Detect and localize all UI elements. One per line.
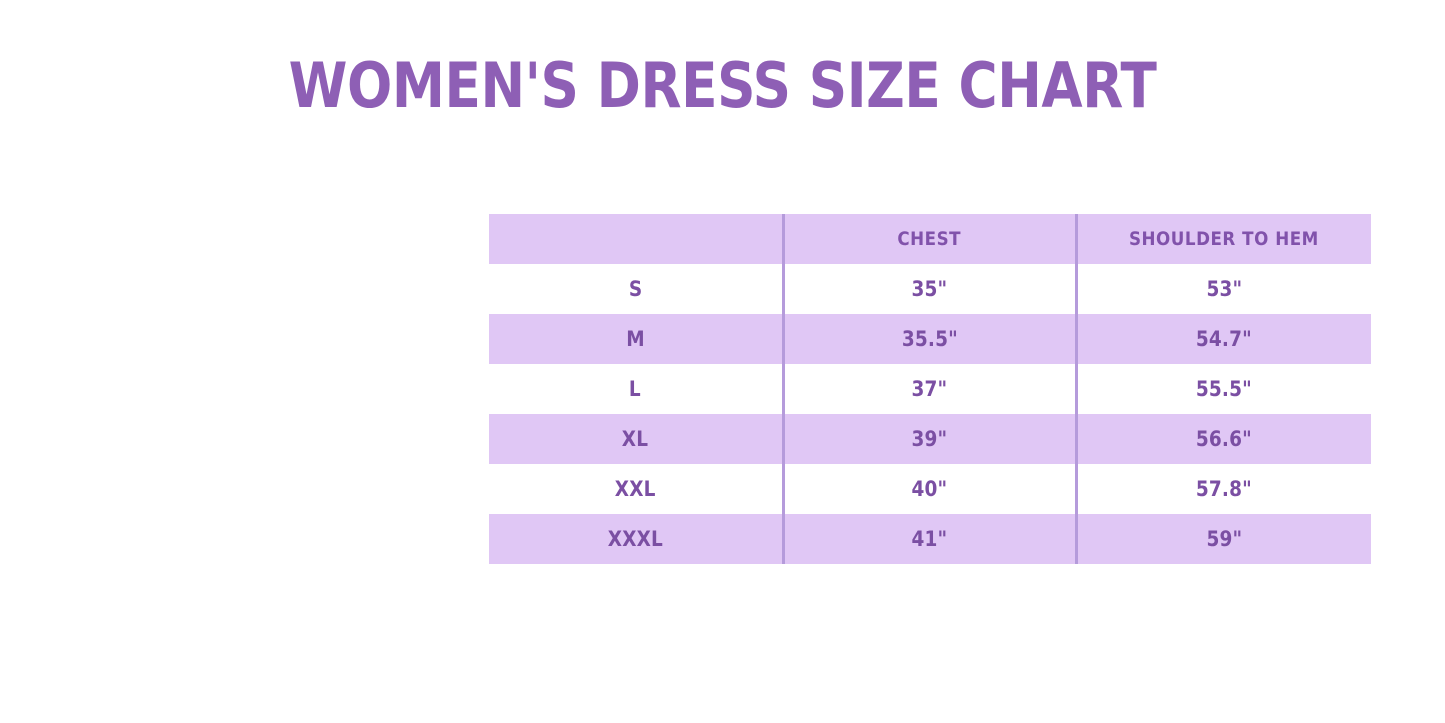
table-header-row: CHEST SHOULDER TO HEM: [489, 214, 1371, 264]
table-row: XL 39" 56.6": [489, 414, 1371, 464]
size-chart-table-container: CHEST SHOULDER TO HEM S 35" 53: [489, 214, 1371, 566]
column-header-chest: CHEST: [783, 214, 1076, 264]
chest-value: 35.5": [901, 327, 957, 351]
cell-chest: 35.5": [783, 314, 1076, 364]
cell-chest: 41": [783, 514, 1076, 564]
cell-shoulder-to-hem: 53": [1076, 264, 1371, 314]
size-label: L: [629, 377, 641, 401]
table-header: CHEST SHOULDER TO HEM: [489, 214, 1371, 264]
size-label: XXL: [615, 477, 656, 501]
column-header-size: [489, 214, 783, 264]
table-row: S 35" 53": [489, 264, 1371, 314]
shoulder-to-hem-value: 56.6": [1196, 427, 1252, 451]
chest-value: 39": [912, 427, 948, 451]
cell-chest: 39": [783, 414, 1076, 464]
size-label: M: [626, 327, 645, 351]
size-label: XL: [622, 427, 648, 451]
chest-value: 35": [912, 277, 948, 301]
table-row: L 37" 55.5": [489, 364, 1371, 414]
shoulder-to-hem-value: 54.7": [1196, 327, 1252, 351]
size-label: XXXL: [608, 527, 663, 551]
chest-value: 40": [912, 477, 948, 501]
chest-value: 41": [912, 527, 948, 551]
cell-chest: 40": [783, 464, 1076, 514]
cell-shoulder-to-hem: 55.5": [1076, 364, 1371, 414]
cell-size: M: [489, 314, 783, 364]
shoulder-to-hem-value: 53": [1206, 277, 1242, 301]
shoulder-to-hem-value: 59": [1206, 527, 1242, 551]
size-label: S: [628, 277, 641, 301]
column-header-shoulder-to-hem: SHOULDER TO HEM: [1076, 214, 1371, 264]
shoulder-to-hem-value: 55.5": [1196, 377, 1252, 401]
cell-shoulder-to-hem: 57.8": [1076, 464, 1371, 514]
cell-shoulder-to-hem: 54.7": [1076, 314, 1371, 364]
column-header-shoulder-to-hem-label: SHOULDER TO HEM: [1129, 228, 1319, 250]
cell-chest: 35": [783, 264, 1076, 314]
table-row: XXXL 41" 59": [489, 514, 1371, 564]
table-body: S 35" 53" M 35.5": [489, 264, 1371, 564]
cell-shoulder-to-hem: 56.6": [1076, 414, 1371, 464]
cell-size: XXL: [489, 464, 783, 514]
cell-chest: 37": [783, 364, 1076, 414]
page-title: WOMEN'S DRESS SIZE CHART: [101, 52, 1344, 120]
table-row: M 35.5" 54.7": [489, 314, 1371, 364]
cell-size: XL: [489, 414, 783, 464]
column-header-chest-label: CHEST: [898, 228, 962, 250]
chest-value: 37": [912, 377, 948, 401]
size-chart-page: WOMEN'S DRESS SIZE CHART CHEST SHOULDER …: [0, 0, 1445, 723]
cell-size: L: [489, 364, 783, 414]
shoulder-to-hem-value: 57.8": [1196, 477, 1252, 501]
cell-size: XXXL: [489, 514, 783, 564]
table-row: XXL 40" 57.8": [489, 464, 1371, 514]
cell-size: S: [489, 264, 783, 314]
size-chart-table: CHEST SHOULDER TO HEM S 35" 53: [489, 214, 1371, 564]
cell-shoulder-to-hem: 59": [1076, 514, 1371, 564]
